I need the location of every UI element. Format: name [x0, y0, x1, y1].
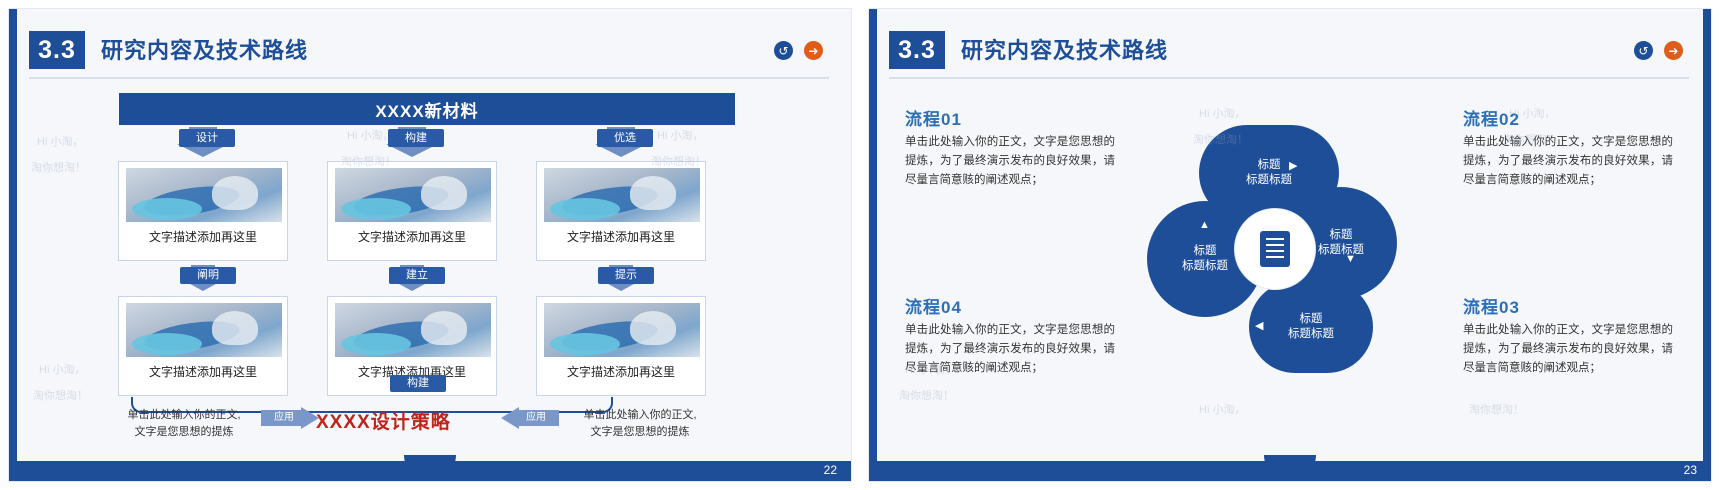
card-caption: 文字描述添加再这里 — [537, 363, 705, 380]
right-slide-left-edge-bar — [869, 9, 877, 482]
card-row1-3[interactable]: 文字描述添加再这里 — [536, 161, 706, 261]
card-row2-1[interactable]: 文字描述添加再这里 — [118, 296, 288, 396]
slide-left-canvas: 3.3 研究内容及技术路线 ↺ ➜ XXXX新材料 设计 构建 优选 文字描述添… — [8, 8, 852, 482]
back-icon-right[interactable]: ↺ — [1634, 41, 1653, 60]
watermark: 淘你想淘！ — [31, 159, 86, 175]
slide-right-canvas: 3.3 研究内容及技术路线 ↺ ➜ 流程01 单击此处输入你的正文，文字是您思想… — [868, 8, 1712, 482]
header-divider-left — [29, 77, 829, 79]
flow-03-body: 单击此处输入你的正文，文字是您思想的提炼，为了最终演示发布的良好效果，请尽量言简… — [1463, 321, 1673, 378]
document-icon — [1260, 231, 1290, 267]
forward-icon-left[interactable]: ➜ — [804, 41, 823, 60]
watermark: Hi 小淘， — [657, 127, 703, 143]
apply-arrow-right-label: 应用 — [515, 411, 557, 425]
label-construct-bottom: 构建 — [390, 375, 446, 392]
petal-bottom-label: 标题 标题标题 — [1288, 312, 1334, 342]
beaker-photo-icon — [126, 303, 282, 357]
marker-right-icon: ▶ — [1289, 159, 1297, 172]
beaker-photo-icon — [126, 168, 282, 222]
flow-02-title: 流程02 — [1463, 105, 1520, 130]
beaker-photo-icon — [335, 168, 491, 222]
marker-left-icon: ◀ — [1255, 319, 1263, 332]
center-node — [1235, 209, 1315, 289]
watermark: 淘你想淘！ — [899, 387, 954, 403]
card-row1-2[interactable]: 文字描述添加再这里 — [327, 161, 497, 261]
forward-icon-right[interactable]: ➜ — [1664, 41, 1683, 60]
card-caption: 文字描述添加再这里 — [537, 228, 705, 245]
header-divider-right — [889, 77, 1689, 79]
petal-bottom[interactable]: 标题 标题标题 — [1249, 281, 1373, 373]
back-icon-left[interactable]: ↺ — [774, 41, 793, 60]
card-caption: 文字描述添加再这里 — [119, 228, 287, 245]
slide-left: 3.3 研究内容及技术路线 ↺ ➜ XXXX新材料 设计 构建 优选 文字描述添… — [0, 0, 860, 490]
watermark: 淘你想淘！ — [1469, 401, 1524, 417]
watermark: 淘你想淘！ — [33, 387, 88, 403]
apply-arrow-left-label: 应用 — [263, 411, 305, 425]
flow-01-body: 单击此处输入你的正文，文字是您思想的提炼，为了最终演示发布的良好效果，请尽量言简… — [905, 133, 1115, 190]
watermark: Hi 小淘， — [1199, 401, 1245, 417]
page-title-right: 研究内容及技术路线 — [961, 33, 1168, 65]
apply-arrow-left: 应用 — [261, 407, 319, 429]
flow-01-title: 流程01 — [905, 105, 962, 130]
right-edge-bar — [1703, 9, 1711, 482]
card-row1-1[interactable]: 文字描述添加再这里 — [118, 161, 288, 261]
label-optimize: 优选 — [597, 129, 653, 147]
beaker-photo-icon — [335, 303, 491, 357]
two-slide-stage: 3.3 研究内容及技术路线 ↺ ➜ XXXX新材料 设计 构建 优选 文字描述添… — [0, 0, 1720, 490]
marker-down-icon: ▼ — [1345, 253, 1356, 265]
marker-up-icon: ▲ — [1199, 219, 1210, 231]
label-design: 设计 — [179, 129, 235, 147]
label-clarify: 阐明 — [180, 267, 236, 284]
watermark: Hi 小淘， — [39, 361, 85, 377]
page-number-right: 23 — [1684, 463, 1697, 477]
beaker-photo-icon — [544, 303, 700, 357]
petal-right-label: 标题 标题标题 — [1318, 228, 1364, 258]
petal-left-label: 标题 标题标题 — [1182, 244, 1228, 274]
section-number-left: 3.3 — [29, 31, 85, 69]
left-edge-bar — [9, 9, 17, 482]
beaker-photo-icon — [544, 168, 700, 222]
card-row2-3[interactable]: 文字描述添加再这里 — [536, 296, 706, 396]
strategy-title: XXXX设计策略 — [316, 407, 451, 434]
card-caption: 文字描述添加再这里 — [119, 363, 287, 380]
label-establish: 建立 — [389, 267, 445, 284]
flow-03-title: 流程03 — [1463, 293, 1520, 318]
flow-02-body: 单击此处输入你的正文，文字是您思想的提炼，为了最终演示发布的良好效果，请尽量言简… — [1463, 133, 1673, 190]
label-hint: 提示 — [598, 267, 654, 284]
card-caption: 文字描述添加再这里 — [328, 228, 496, 245]
material-banner: XXXX新材料 — [119, 93, 735, 125]
watermark: Hi 小淘， — [37, 133, 83, 149]
right-note: 单击此处输入你的正文, 文字是您思想的提炼 — [565, 407, 715, 441]
page-title-left: 研究内容及技术路线 — [101, 33, 308, 65]
flow-04-title: 流程04 — [905, 293, 962, 318]
apply-arrow-right: 应用 — [501, 407, 559, 429]
flow-04-body: 单击此处输入你的正文，文字是您思想的提炼，为了最终演示发布的良好效果，请尽量言简… — [905, 321, 1115, 378]
petal-top-label: 标题 标题标题 — [1246, 158, 1292, 188]
section-number-right: 3.3 — [889, 31, 945, 69]
cycle-diagram: 标题 标题标题 标题 标题标题 标题 标题标题 标题 标题标题 ▶ ▼ ◀ ▲ — [1137, 117, 1437, 377]
left-note: 单击此处输入你的正文, 文字是您思想的提炼 — [109, 407, 259, 441]
label-build: 构建 — [388, 129, 444, 147]
slide-right: 3.3 研究内容及技术路线 ↺ ➜ 流程01 单击此处输入你的正文，文字是您思想… — [860, 0, 1720, 490]
page-number-left: 22 — [824, 463, 837, 477]
